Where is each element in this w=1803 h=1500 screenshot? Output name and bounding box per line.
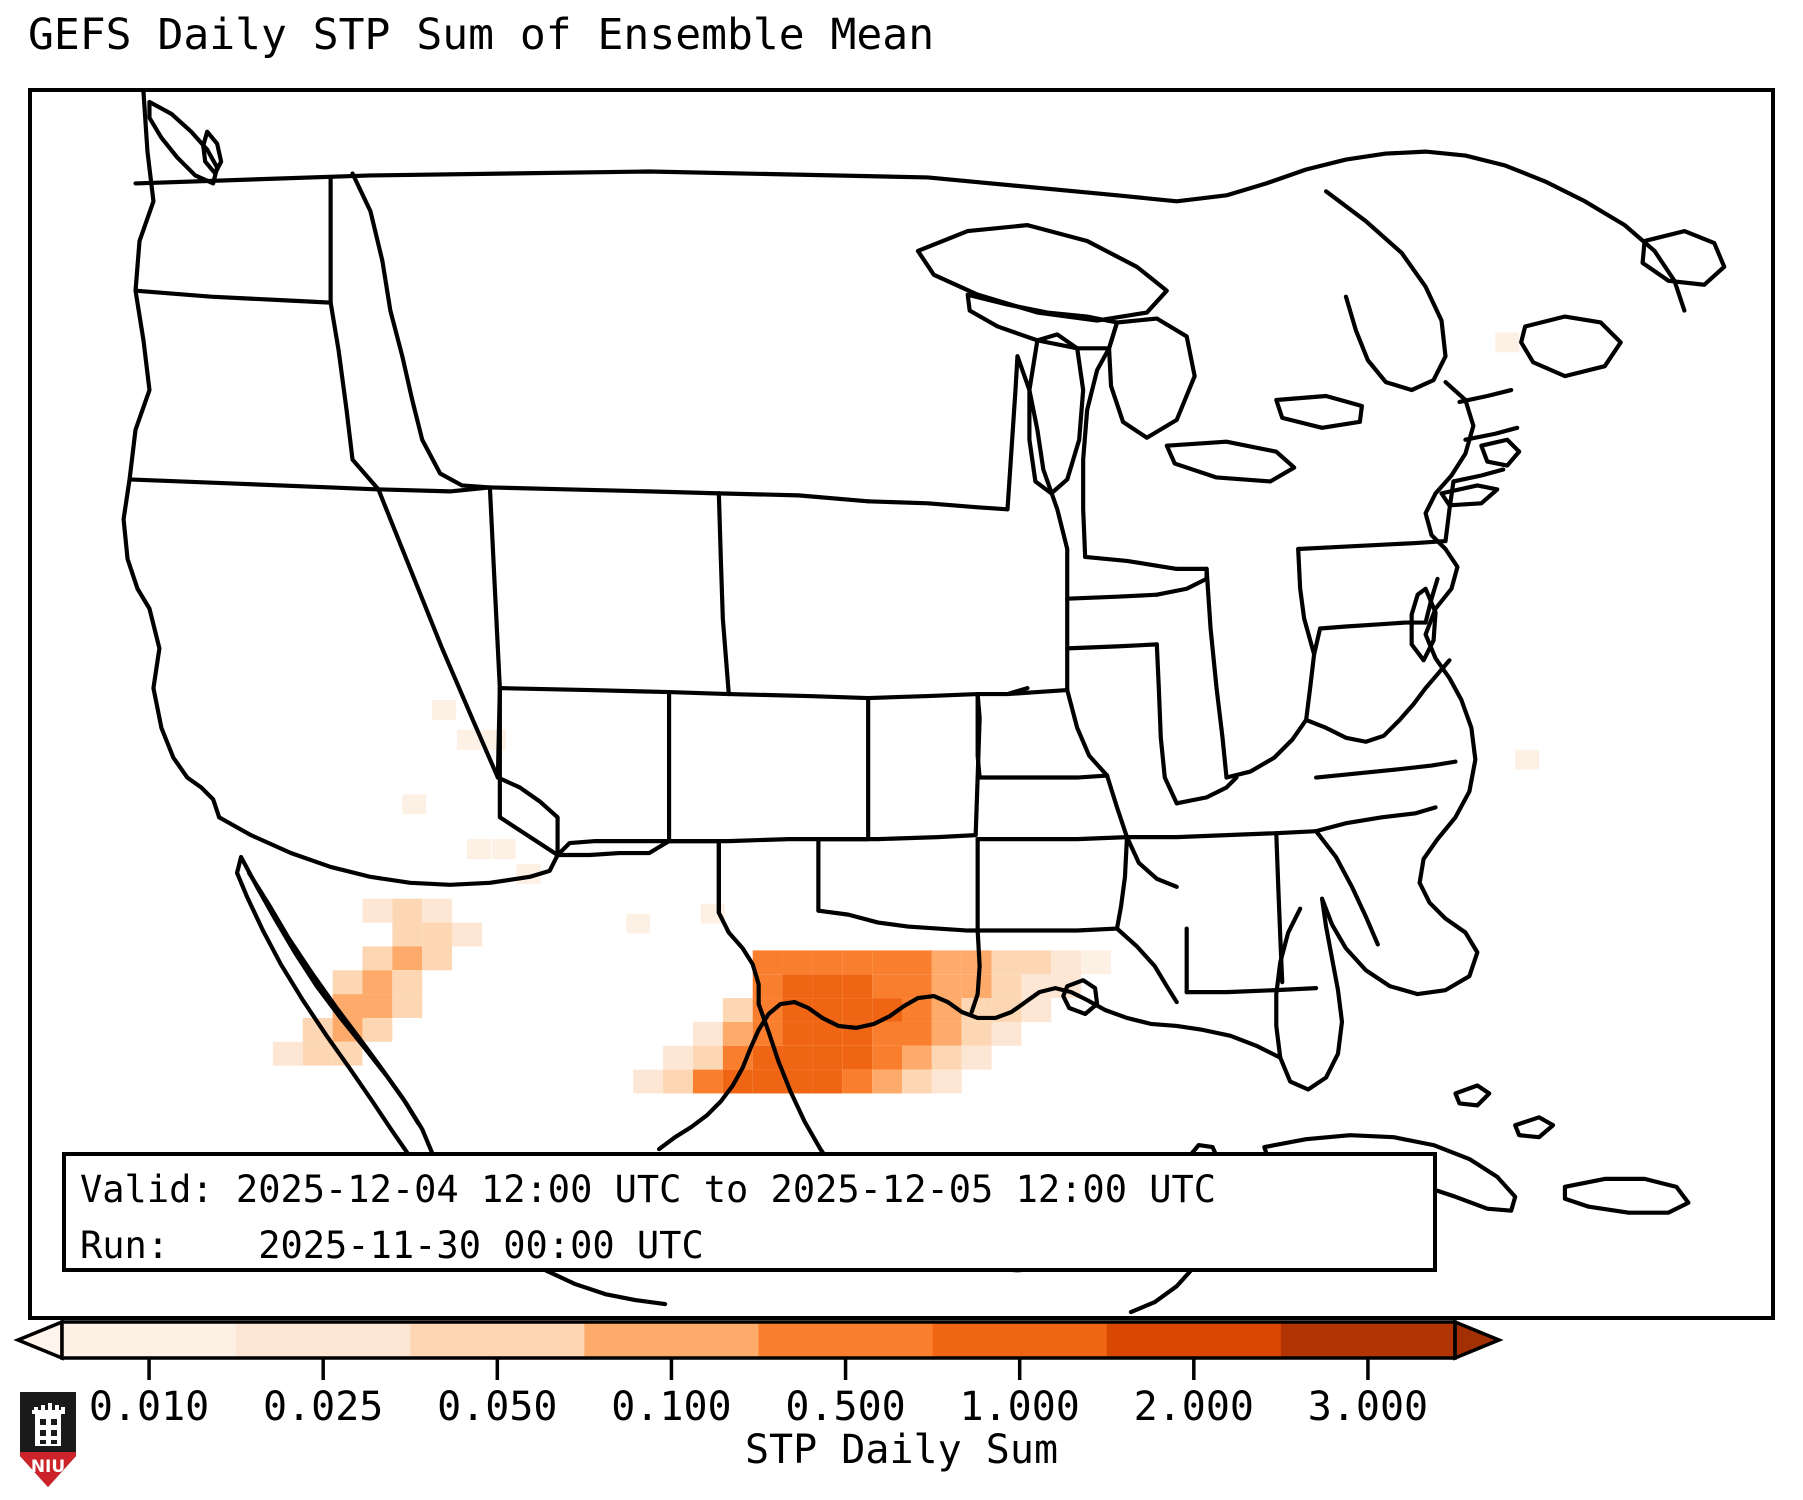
puget-sound-detail bbox=[203, 132, 221, 174]
colorbar-tick-label: 0.500 bbox=[751, 1384, 941, 1430]
state-border-nd-mn bbox=[1008, 356, 1018, 509]
state-border-or-id bbox=[331, 303, 379, 490]
colorbar-extend-max bbox=[1455, 1322, 1499, 1358]
state-border-oh-ky-wv bbox=[1227, 720, 1307, 778]
state-border-al-ga bbox=[1276, 833, 1282, 982]
niu-logo: NIU bbox=[17, 1390, 79, 1490]
nova-scotia bbox=[1521, 317, 1621, 377]
colorbar-tick-label: 0.100 bbox=[576, 1384, 766, 1430]
state-border-nc-va bbox=[1316, 762, 1455, 778]
map-panel bbox=[28, 88, 1775, 1320]
state-border-pa-ohio bbox=[1298, 549, 1314, 654]
colorbar-tick-label: 0.050 bbox=[402, 1384, 592, 1430]
state-border-ne-states-3 bbox=[1459, 390, 1511, 402]
state-border-pa-ny bbox=[1298, 541, 1445, 549]
michigan-lower-peninsula bbox=[1083, 348, 1109, 557]
colorbar-tick-label: 2.000 bbox=[1099, 1384, 1289, 1430]
coastline-pacific bbox=[124, 92, 220, 817]
state-border-wa-or bbox=[136, 291, 331, 303]
page-title: GEFS Daily STP Sum of Ensemble Mean bbox=[28, 14, 934, 57]
state-border-ne-ks bbox=[818, 698, 868, 839]
colorbar-ticks bbox=[149, 1358, 1368, 1380]
state-border-sc-nc bbox=[1316, 807, 1435, 831]
state-border-tn-ms-al bbox=[1127, 831, 1316, 837]
colorbar-bands bbox=[18, 1322, 1499, 1358]
state-border-tx-la bbox=[972, 931, 980, 1012]
state-border-or-ca-nv bbox=[130, 479, 379, 489]
cape-cod bbox=[1481, 440, 1519, 466]
colorbar-tick-label: 0.010 bbox=[54, 1384, 244, 1430]
bahamas-2 bbox=[1515, 1117, 1553, 1137]
state-border-mi-upper bbox=[1157, 569, 1207, 595]
state-border-in-oh bbox=[1207, 569, 1227, 778]
coastline-canada-east bbox=[1117, 152, 1684, 311]
bahamas-1 bbox=[1455, 1086, 1489, 1106]
state-border-ne-states-1 bbox=[1453, 470, 1503, 482]
hispaniola-island bbox=[1565, 1179, 1688, 1213]
newfoundland-edge bbox=[1643, 231, 1725, 285]
colorbar-band bbox=[1107, 1322, 1282, 1358]
lake-huron bbox=[1109, 319, 1195, 438]
state-border-co-ks-ne bbox=[729, 694, 868, 698]
run-time-line: Run: 2025-11-30 00:00 UTC bbox=[80, 1218, 1419, 1274]
state-border-il-mo-ky bbox=[1107, 776, 1177, 887]
state-border-ia-mo bbox=[978, 694, 1107, 777]
lake-superior bbox=[918, 225, 1167, 320]
colorbar-band bbox=[62, 1322, 237, 1358]
state-border-mt-wy bbox=[490, 487, 719, 493]
state-border-id-mt bbox=[353, 173, 490, 487]
colorbar-band bbox=[759, 1322, 934, 1358]
logo-text: NIU bbox=[31, 1457, 65, 1477]
border-usa-canada-west bbox=[136, 171, 1117, 195]
state-border-id-nv-ut bbox=[378, 487, 489, 491]
state-border-mi-lower-base bbox=[1085, 557, 1177, 569]
state-border-ia-il bbox=[1067, 690, 1107, 775]
state-border-ca-az bbox=[498, 778, 558, 855]
state-border-ca-nv bbox=[378, 489, 497, 777]
state-border-wy-sd-ne bbox=[719, 493, 729, 694]
state-border-in-ky bbox=[1177, 778, 1237, 804]
state-border-nv-ut bbox=[490, 487, 500, 688]
geography-layer bbox=[32, 92, 1771, 1316]
st-lawrence-river bbox=[1326, 191, 1445, 390]
gulf-of-california bbox=[249, 873, 418, 1123]
state-border-la-ms-south bbox=[1117, 929, 1177, 1003]
lake-ontario bbox=[1276, 396, 1362, 428]
state-border-wv-pa-md bbox=[1306, 623, 1425, 720]
state-border-nd-sd bbox=[868, 501, 1007, 509]
state-border-mo-ar bbox=[978, 837, 1127, 839]
valid-time-line: Valid: 2025-12-04 12:00 UTC to 2025-12-0… bbox=[80, 1162, 1419, 1218]
state-border-wi-mi bbox=[1067, 595, 1157, 599]
state-border-wi-il bbox=[1067, 644, 1157, 648]
forecast-info-box: Valid: 2025-12-04 12:00 UTC to 2025-12-0… bbox=[62, 1152, 1437, 1272]
colorbar-band bbox=[933, 1322, 1108, 1358]
state-border-sd-ne bbox=[868, 688, 1027, 698]
state-border-ut-az bbox=[500, 688, 558, 855]
state-border-ga-fl-al bbox=[1187, 988, 1316, 992]
colorbar-tick-label: 1.000 bbox=[925, 1384, 1115, 1430]
lake-michigan bbox=[1029, 334, 1083, 493]
coastline-atlantic bbox=[1322, 382, 1477, 994]
state-border-ar-la-ms bbox=[978, 929, 1117, 931]
colorbar-band bbox=[584, 1322, 759, 1358]
coastline-vancouver-island bbox=[149, 102, 217, 183]
lake-erie bbox=[1167, 442, 1294, 482]
state-border-tx-ok-red-river bbox=[818, 911, 977, 931]
colorbar-band bbox=[236, 1322, 411, 1358]
colorbar-band bbox=[410, 1322, 585, 1358]
colorbar-tick-label: 0.025 bbox=[228, 1384, 418, 1430]
state-border-va-wv-ky bbox=[1306, 660, 1449, 741]
colorbar-band bbox=[1281, 1322, 1456, 1358]
colorbar-tick-label: 3.000 bbox=[1273, 1384, 1463, 1430]
state-border-co-nm-ok bbox=[669, 839, 818, 841]
state-border-mn-wi bbox=[1017, 356, 1067, 690]
state-border-ar-tn-ms bbox=[1117, 837, 1127, 928]
colorbar-axis-label: STP Daily Sum bbox=[0, 1427, 1803, 1473]
state-border-mt-nd bbox=[719, 493, 868, 501]
state-border-wy-co-ut bbox=[500, 688, 729, 694]
border-usa-mexico bbox=[219, 817, 759, 1004]
state-border-il-in bbox=[1157, 644, 1177, 803]
colorbar-extend-min bbox=[18, 1322, 62, 1358]
